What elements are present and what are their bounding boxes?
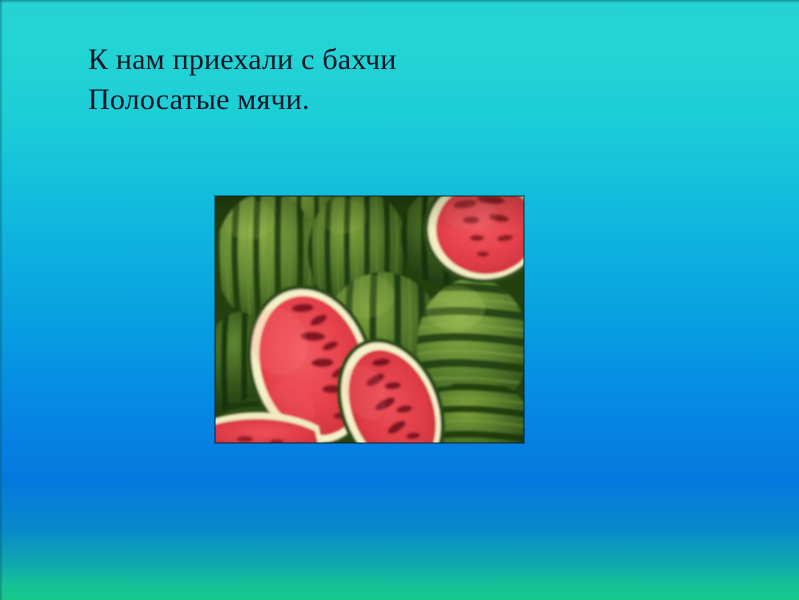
riddle-line-1: К нам приехали с бахчи [88,40,688,80]
watermelon-illustration [215,196,524,443]
riddle-text: К нам приехали с бахчи Полосатые мячи. [88,40,688,120]
photo-top-shade [215,196,524,232]
watermelons-photo [215,196,524,443]
presentation-slide: К нам приехали с бахчи Полосатые мячи. [0,0,799,600]
riddle-line-2: Полосатые мячи. [88,80,688,120]
